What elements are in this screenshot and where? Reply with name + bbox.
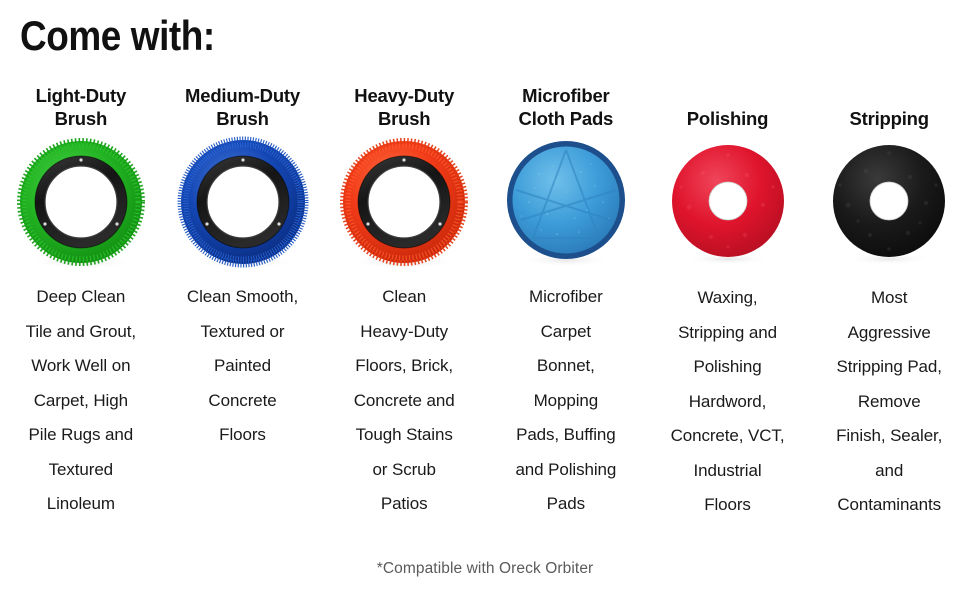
column-header: Medium-Duty Brush (185, 84, 300, 130)
description-line: and (836, 454, 942, 489)
column-header-line: Microfiber (522, 84, 609, 107)
column-header-line: Stripping (850, 107, 929, 130)
description-line: Stripping Pad, (836, 350, 942, 385)
description-line: Pile Rugs and (26, 418, 136, 453)
description-line: Tile and Grout, (26, 315, 136, 350)
description-line: Linoleum (26, 487, 136, 522)
description-line: Patios (354, 487, 455, 522)
description-line: Polishing (671, 350, 785, 385)
product-column-light-duty-brush: Light-Duty Brush (0, 84, 162, 522)
product-columns: Light-Duty Brush (0, 84, 970, 523)
product-column-heavy-duty-brush: Heavy-Duty Brush (323, 84, 485, 522)
microfiber-cloth-pad-icon (491, 134, 641, 274)
description-line: Deep Clean (26, 280, 136, 315)
description-line: Industrial (671, 454, 785, 489)
column-header-line: Polishing (687, 107, 768, 130)
description-line: Tough Stains (354, 418, 455, 453)
heavy-duty-brush-icon (329, 134, 479, 274)
description-line: Finish, Sealer, (836, 419, 942, 454)
column-description: Clean Heavy-Duty Floors, Brick, Concrete… (354, 280, 455, 522)
description-line: Carpet (515, 315, 616, 350)
medium-duty-brush-icon (168, 134, 318, 274)
product-column-stripping: Stripping (808, 84, 970, 523)
column-header: Polishing (687, 84, 768, 131)
description-line: Bonnet, (515, 349, 616, 384)
stripping-pad-icon (814, 135, 964, 275)
description-line: Waxing, (671, 281, 785, 316)
description-line: Aggressive (836, 316, 942, 351)
description-line: Stripping and (671, 316, 785, 351)
description-line: Contaminants (836, 488, 942, 523)
column-header-line: Cloth Pads (519, 107, 614, 130)
column-header: Heavy-Duty Brush (354, 84, 454, 130)
description-line: Textured (26, 453, 136, 488)
product-column-microfiber-cloth-pads: Microfiber Cloth Pads (485, 84, 647, 522)
column-header-line: Light-Duty (36, 84, 126, 107)
column-header: Stripping (850, 84, 929, 131)
column-header: Microfiber Cloth Pads (519, 84, 614, 130)
description-line: Remove (836, 385, 942, 420)
description-line: Most (836, 281, 942, 316)
description-line: Microfiber (515, 280, 616, 315)
description-line: Floors (671, 488, 785, 523)
description-line: Concrete, VCT, (671, 419, 785, 454)
column-header-line: Brush (378, 107, 430, 130)
description-line: Floors (187, 418, 298, 453)
product-column-polishing: Polishing (647, 84, 809, 523)
page-title: Come with: (20, 13, 215, 59)
description-line: Hardword, (671, 385, 785, 420)
description-line: Heavy-Duty (354, 315, 455, 350)
column-header-line: Heavy-Duty (354, 84, 454, 107)
description-line: Pads, Buffing (515, 418, 616, 453)
compatibility-footnote: *Compatible with Oreck Orbiter (0, 560, 970, 578)
description-line: Concrete (187, 384, 298, 419)
column-description: Deep Clean Tile and Grout, Work Well on … (26, 280, 136, 522)
column-description: Clean Smooth, Textured or Painted Concre… (187, 280, 298, 453)
description-line: or Scrub (354, 453, 455, 488)
light-duty-brush-icon (6, 134, 156, 274)
description-line: Carpet, High (26, 384, 136, 419)
description-line: Work Well on (26, 349, 136, 384)
description-line: Textured or (187, 315, 298, 350)
column-header-line: Brush (216, 107, 268, 130)
column-header: Light-Duty Brush (36, 84, 126, 130)
column-description: Most Aggressive Stripping Pad, Remove Fi… (836, 281, 942, 523)
description-line: Painted (187, 349, 298, 384)
column-header-line: Medium-Duty (185, 84, 300, 107)
description-line: and Polishing (515, 453, 616, 488)
description-line: Mopping (515, 384, 616, 419)
column-description: Waxing, Stripping and Polishing Hardword… (671, 281, 785, 523)
infographic-page: Come with: Light-Duty Brush (0, 0, 970, 600)
description-line: Pads (515, 487, 616, 522)
description-line: Clean (354, 280, 455, 315)
description-line: Clean Smooth, (187, 280, 298, 315)
polishing-pad-icon (653, 135, 803, 275)
description-line: Concrete and (354, 384, 455, 419)
column-header-line: Brush (55, 107, 107, 130)
description-line: Floors, Brick, (354, 349, 455, 384)
product-column-medium-duty-brush: Medium-Duty Brush (162, 84, 324, 453)
column-description: Microfiber Carpet Bonnet, Mopping Pads, … (515, 280, 616, 522)
